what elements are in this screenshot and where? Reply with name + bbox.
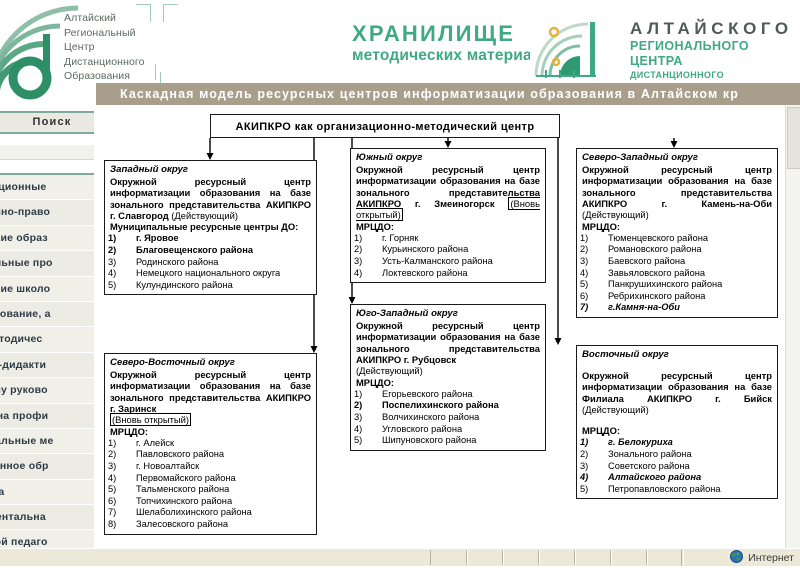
node-yuzhnyj-list: 1)г. Горняк 2)Курьинского района 3)Усть-…: [356, 233, 540, 279]
node-zapadnyj-okrug[interactable]: Западный округ Окружной ресурсный центр …: [104, 160, 317, 295]
list-item-number: 5): [122, 484, 136, 496]
list-item-number: 4): [122, 268, 136, 280]
list-item-label: Топчихинского района: [136, 496, 232, 506]
list-item-number: 4): [594, 268, 608, 280]
node-root[interactable]: АКИПКРО как организационно-методический …: [210, 114, 560, 138]
node-vostochnyj-title: Восточный округ: [582, 349, 772, 361]
list-item-label: Залесовского района: [136, 519, 228, 529]
node-yugo-zapadnyj-desc-bold: Окружной ресурсный центр информатизации …: [356, 320, 540, 365]
search-header: Поиск: [0, 111, 104, 134]
list-item-number: 5): [594, 484, 608, 496]
list-item-number: 4): [594, 472, 608, 484]
status-segment: [574, 550, 612, 565]
logo-line-2: Региональный: [64, 26, 184, 41]
status-zone-label: Интернет: [748, 552, 794, 564]
arcdo-logo-wordmark: Алтайский Региональный Центр Дистанционн…: [64, 11, 184, 84]
list-item-label: г. Белокуриха: [608, 437, 673, 447]
search-input[interactable]: [0, 145, 104, 160]
status-segment: [610, 550, 648, 565]
node-yugo-zapadnyj-description: Окружной ресурсный центр информатизации …: [356, 320, 540, 377]
list-item-label: г. Горняк: [382, 233, 418, 243]
list-item-number: 7): [122, 507, 136, 519]
node-vostochnyj-desc-bold: Окружной ресурсный центр информатизации …: [582, 370, 772, 404]
arcdo-secondary-logo-text: АЛТАЙСКОГО РЕГИОНАЛЬНОГО ЦЕНТРА ДИСТАНЦИ…: [630, 19, 795, 93]
list-item-label: Тальменского района: [136, 484, 229, 494]
node-vostochnyj-list: 1)г. Белокуриха 2)Зонального района 3)Со…: [582, 437, 772, 495]
list-item-number: 3): [122, 461, 136, 473]
list-item-label: г. Алейск: [136, 438, 174, 448]
list-item-number: 1): [594, 233, 608, 245]
list-item-number: 1): [368, 233, 382, 245]
crop-guide-h1: [136, 4, 151, 5]
list-item: 2)Благовещенского района: [110, 245, 311, 257]
logo-line-5: Образования: [64, 69, 184, 84]
list-item: 5)Тальменского района: [110, 484, 311, 496]
list-item: 2)Романовского района: [582, 244, 772, 256]
list-item: 5)Шипуновского района: [356, 435, 540, 447]
list-item: 1)Егорьевского района: [356, 389, 540, 401]
list-item: 6)Топчихинского района: [110, 496, 311, 508]
node-severo-zapadnyj-mrc-head: МРЦДО:: [582, 221, 772, 233]
node-yugo-zapadnyj-list: 1)Егорьевского района 2)Поспелихинского …: [356, 389, 540, 447]
list-item: 3)Баевского района: [582, 256, 772, 268]
node-vostochnyj-mrc-head: МРЦДО:: [582, 425, 772, 437]
node-yuzhnyj-mrc-head: МРЦДО:: [356, 221, 540, 233]
sidebar-item-9[interactable]: реход на профи: [0, 404, 104, 429]
status-segment: [466, 550, 504, 565]
node-zapadnyj-description: Окружной ресурсный центр информатизации …: [110, 176, 311, 222]
list-item: 3)Усть-Калманского района: [356, 256, 540, 268]
arcdo-secondary-logo-icon: [530, 18, 628, 80]
list-item-label: Петропавловского района: [608, 484, 721, 494]
list-item-number: 3): [368, 256, 382, 268]
list-item-label: Родинского района: [136, 257, 218, 267]
list-item-number: 4): [368, 424, 382, 436]
node-severo-vostochnyj-status: (Вновь открытый): [110, 413, 191, 426]
list-item: 7)г.Камня-на-Оби: [582, 302, 772, 314]
node-vostochnyj-status: (Действующий): [582, 404, 649, 415]
node-yuzhnyj-title: Южный округ: [356, 152, 540, 164]
list-item-label: Шелаболихинского района: [136, 507, 252, 517]
list-item: 5)Кулундинского района: [110, 280, 311, 292]
list-item-label: Советского района: [608, 461, 690, 471]
logo-line-1: Алтайский: [64, 11, 184, 26]
list-item-number: 1): [368, 389, 382, 401]
list-item-number: 2): [368, 400, 382, 412]
list-item-label: Волчихинского района: [382, 412, 479, 422]
node-yugo-zapadnyj-title: Юго-Западный округ: [356, 308, 540, 320]
node-severo-zapadnyj-title: Северо-Западный округ: [582, 152, 772, 164]
list-item: 6)Ребрихинского района: [582, 291, 772, 303]
list-item: 2)Зонального района: [582, 449, 772, 461]
list-item: 2)Поспелихинского района: [356, 400, 540, 412]
status-segment: [646, 550, 684, 565]
status-segment: [430, 550, 468, 565]
list-item-number: 6): [594, 291, 608, 303]
node-vostochnyj-okrug[interactable]: Восточный округ Окружной ресурсный центр…: [576, 345, 778, 499]
list-item: 3)Родинского района: [110, 257, 311, 269]
list-item: 3)Волчихинского района: [356, 412, 540, 424]
sidebar-item-6[interactable]: чно-методичес: [0, 327, 104, 352]
node-vostochnyj-description: Окружной ресурсный центр информатизации …: [582, 370, 772, 416]
list-item-number: 3): [368, 412, 382, 424]
list-item-label: Ребрихинского района: [608, 291, 705, 301]
node-severo-zapadnyj-description: Окружной ресурсный центр информатизации …: [582, 164, 772, 221]
node-severo-vostochnyj-desc-bold: Окружной ресурсный центр информатизации …: [110, 369, 311, 414]
sidebar-item-8[interactable]: ассному руково: [0, 378, 104, 403]
sidebar-item-1[interactable]: рмативно-право: [0, 200, 104, 225]
list-item: 1)г. Яровое: [110, 233, 311, 245]
node-severo-vostochnyj-mrc-head: МРЦДО:: [110, 426, 311, 438]
list-item: 4)Угловского района: [356, 424, 540, 436]
list-item-number: 6): [122, 496, 136, 508]
list-item-label: г. Новоалтайск: [136, 461, 199, 471]
list-item: 2)Павловского района: [110, 449, 311, 461]
node-yuzhnyj-okrug[interactable]: Южный округ Окружной ресурсный центр инф…: [350, 148, 546, 283]
list-item-number: 3): [594, 461, 608, 473]
status-badge[interactable]: Интернет: [730, 550, 794, 565]
node-zapadnyj-title: Западный округ: [110, 164, 311, 176]
list-item-label: Панкрушихинского района: [608, 279, 722, 289]
sidebar-item-5[interactable]: цензирование, а: [0, 302, 104, 327]
node-severo-zapadnyj-okrug[interactable]: Северо-Западный округ Окружной ресурсный…: [576, 148, 778, 318]
vertical-scrollbar[interactable]: [785, 105, 800, 548]
globe-icon: [730, 550, 743, 568]
list-item-number: 4): [368, 268, 382, 280]
node-severo-vostochnyj-description: Окружной ресурсный центр информатизации …: [110, 369, 311, 426]
list-item-number: 2): [594, 449, 608, 461]
list-item-number: 5): [122, 280, 136, 292]
status-segment: [502, 550, 540, 565]
node-yuzhnyj-description: Окружной ресурсный центр информатизации …: [356, 164, 540, 221]
list-item: 4)Локтевского района: [356, 268, 540, 280]
list-item-number: 5): [594, 279, 608, 291]
list-item: 3)Советского района: [582, 461, 772, 473]
node-zapadnyj-list: 1)г. Яровое 2)Благовещенского района 3)Р…: [110, 233, 311, 291]
list-item-number: 3): [122, 257, 136, 269]
list-item-number: 2): [368, 244, 382, 256]
list-item-number: 2): [594, 244, 608, 256]
list-item-number: 1): [122, 438, 136, 450]
sidebar-item-11[interactable]: танционное обр: [0, 454, 104, 479]
node-yugo-zapadnyj-okrug[interactable]: Юго-Западный округ Окружной ресурсный це…: [350, 304, 546, 451]
list-item-label: Локтевского района: [382, 268, 468, 278]
node-severo-zapadnyj-list: 1)Тюменцевского района 2)Романовского ра…: [582, 233, 772, 314]
list-item-label: Романовского района: [608, 244, 702, 254]
list-item-number: 5): [368, 435, 382, 447]
list-item-label: Кулундинского района: [136, 280, 233, 290]
sidebar-item-10[interactable]: ниципальные ме: [0, 429, 104, 454]
list-item: 8)Залесовского района: [110, 519, 311, 531]
scrollbar-thumb[interactable]: [787, 107, 800, 169]
sidebar-item-4[interactable]: равление школо: [0, 277, 104, 302]
arcdo-secondary-logo: АЛТАЙСКОГО РЕГИОНАЛЬНОГО ЦЕНТРА ДИСТАНЦИ…: [530, 18, 795, 80]
list-item: 4)Алтайского района: [582, 472, 772, 484]
sidebar: Поиск формационные рмативно-право равлен…: [0, 105, 104, 565]
list-item-label: Егорьевского района: [382, 389, 473, 399]
list-item: 1)Тюменцевского района: [582, 233, 772, 245]
list-item-label: г.Камня-на-Оби: [608, 302, 680, 312]
crop-guide-h2: [163, 4, 178, 5]
list-item-label: Угловского района: [382, 424, 462, 434]
list-item: 4)Первомайского района: [110, 473, 311, 485]
list-item: 1)г. Белокуриха: [582, 437, 772, 449]
logo-line-4: Дистанционного: [64, 55, 184, 70]
list-item-number: 3): [594, 256, 608, 268]
node-root-title: АКИПКРО как организационно-методический …: [211, 115, 559, 139]
node-zapadnyj-mrc-head: Муниципальные ресурсные центры ДО:: [110, 221, 311, 233]
list-item-label: Первомайского района: [136, 473, 236, 483]
list-item-number: 2): [122, 449, 136, 461]
list-item-label: Шипуновского района: [382, 435, 476, 445]
secondary-logo-line2: РЕГИОНАЛЬНОГО ЦЕНТРА: [630, 39, 795, 69]
list-item: 1)г. Горняк: [356, 233, 540, 245]
list-item: 1)г. Алейск: [110, 438, 311, 450]
list-item: 4)Немецкого национального округа: [110, 268, 311, 280]
logo-line-3: Центр: [64, 40, 184, 55]
list-item-label: г. Яровое: [136, 233, 179, 243]
list-item-label: Зонального района: [608, 449, 692, 459]
sidebar-item-13[interactable]: периментальна: [0, 505, 104, 530]
sidebar-item-2[interactable]: равление образ: [0, 226, 104, 251]
list-item-label: Тюменцевского района: [608, 233, 708, 243]
status-segment: [538, 550, 576, 565]
sidebar-item-3[interactable]: циональные про: [0, 251, 104, 276]
node-severo-zapadnyj-desc-bold: Окружной ресурсный центр информатизации …: [582, 164, 772, 209]
sidebar-item-7[interactable]: холого-дидакти: [0, 353, 104, 378]
list-item-number: 4): [122, 473, 136, 485]
node-severo-vostochnyj-title: Северо-Восточный округ: [110, 357, 311, 369]
list-item-label: Благовещенского района: [136, 245, 253, 255]
node-severo-zapadnyj-status: (Действующий): [582, 209, 649, 220]
list-item-label: Алтайского района: [608, 472, 701, 482]
diagram-canvas: АКИПКРО как организационно-методический …: [96, 105, 786, 548]
list-item-label: Завьяловского района: [608, 268, 705, 278]
sidebar-item-12[interactable]: пертиза: [0, 480, 104, 505]
sidebar-item-0[interactable]: формационные: [0, 175, 104, 200]
list-item-label: Немецкого национального округа: [136, 268, 280, 278]
secondary-logo-line1: АЛТАЙСКОГО: [630, 19, 795, 39]
list-item-label: Курьинского района: [382, 244, 468, 254]
list-item-label: Поспелихинского района: [382, 400, 499, 410]
browser-status-bar: Интернет: [0, 548, 800, 566]
node-severo-vostochnyj-okrug[interactable]: Северо-Восточный округ Окружной ресурсны…: [104, 353, 317, 535]
list-item: 3)г. Новоалтайск: [110, 461, 311, 473]
node-yugo-zapadnyj-status: (Действующий): [356, 365, 423, 376]
page-title: Каскадная модель ресурсных центров инфор…: [96, 83, 800, 105]
list-item: 4)Завьяловского района: [582, 268, 772, 280]
list-item-number: 7): [594, 302, 608, 314]
list-item-number: 2): [122, 245, 136, 257]
node-zapadnyj-status: (Действующий): [171, 210, 238, 221]
node-yugo-zapadnyj-mrc-head: МРЦДО:: [356, 377, 540, 389]
list-item: 2)Курьинского района: [356, 244, 540, 256]
list-item-label: Баевского района: [608, 256, 685, 266]
node-severo-vostochnyj-list: 1)г. Алейск 2)Павловского района 3)г. Но…: [110, 438, 311, 531]
list-item-label: Павловского района: [136, 449, 224, 459]
list-item-number: 1): [594, 437, 608, 449]
list-item-label: Усть-Калманского района: [382, 256, 493, 266]
list-item-number: 8): [122, 519, 136, 531]
list-item-number: 1): [122, 233, 136, 245]
list-item: 5)Панкрушихинского района: [582, 279, 772, 291]
list-item: 5)Петропавловского района: [582, 484, 772, 496]
sidebar-menu: формационные рмативно-право равление обр…: [0, 173, 104, 556]
list-item: 7)Шелаболихинского района: [110, 507, 311, 519]
